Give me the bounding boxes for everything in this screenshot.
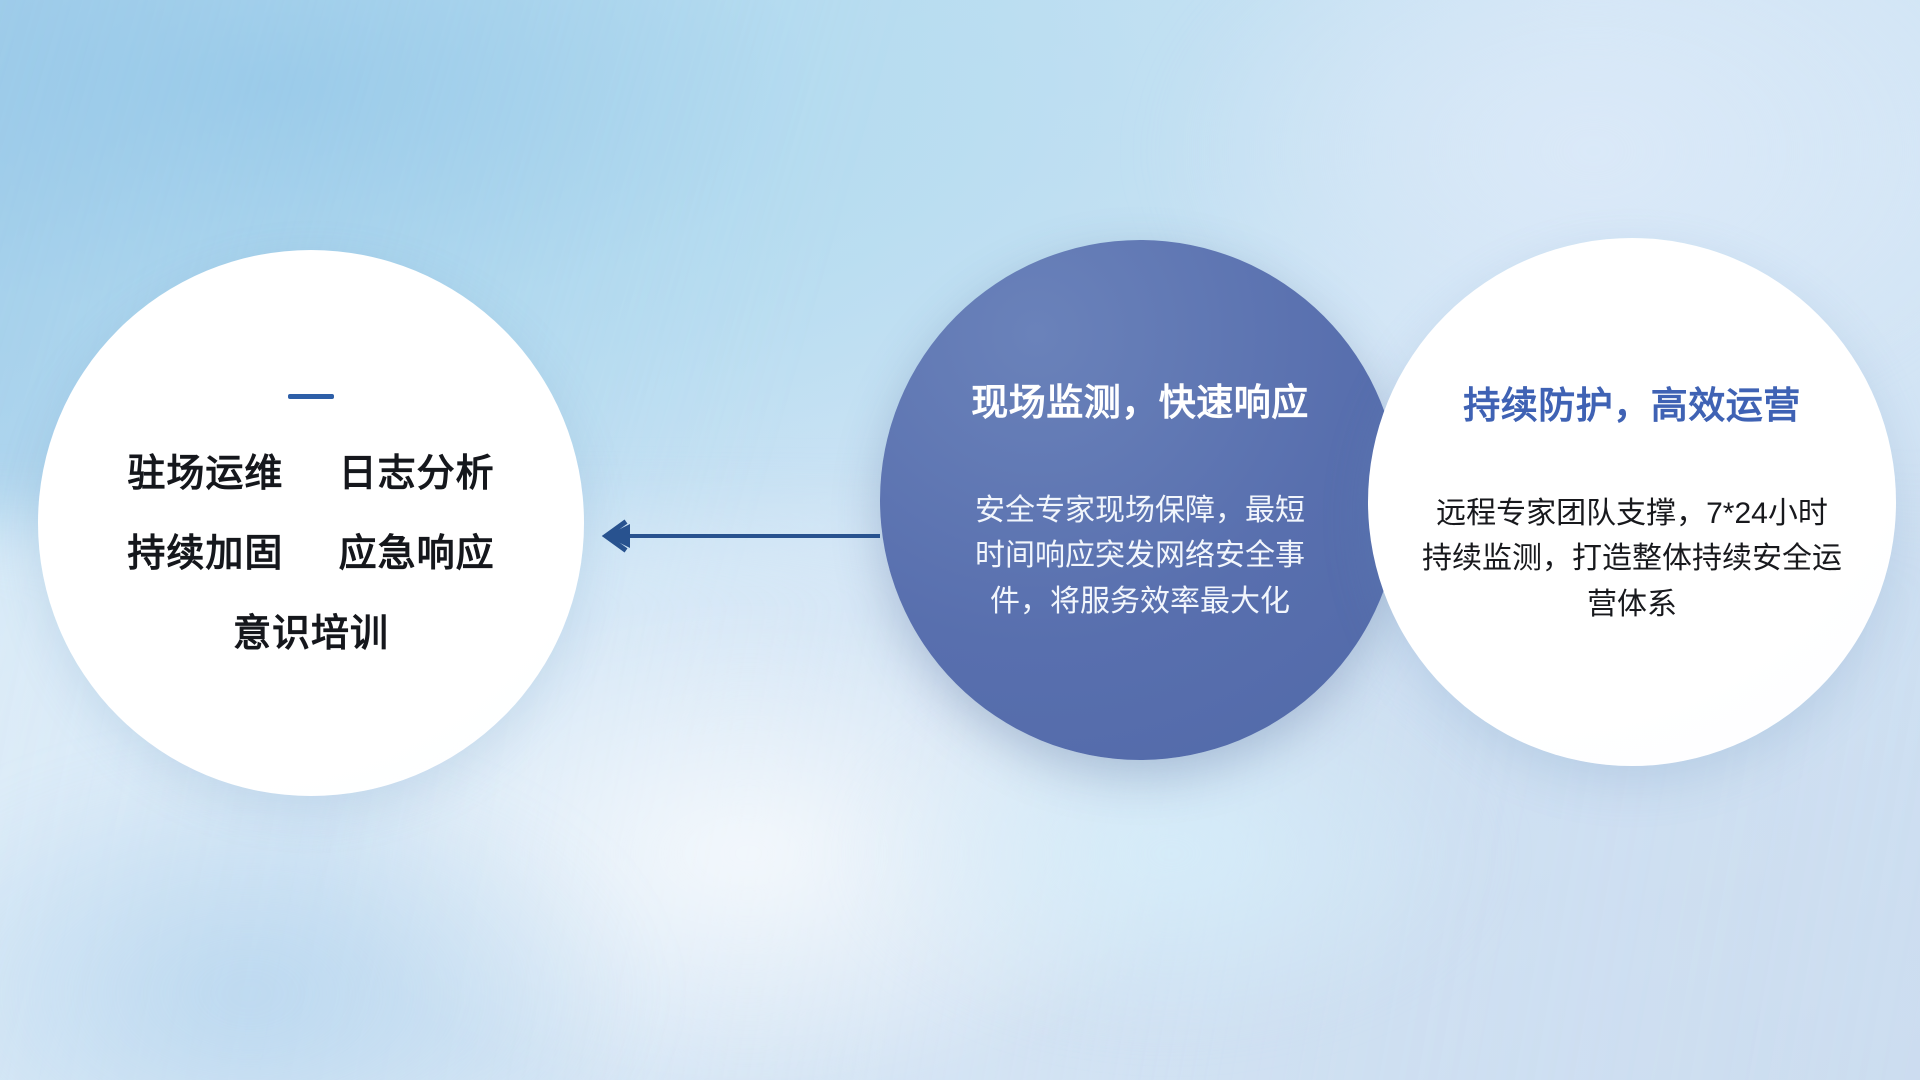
- service-body-onsite: 安全专家现场保障，最短时间响应突发网络安全事件，将服务效率最大化: [975, 488, 1305, 625]
- capability-tag-onsite-ops: 驻场运维: [127, 453, 283, 495]
- capability-tag-log-analysis: 日志分析: [339, 453, 495, 495]
- capability-circle-left[interactable]: 驻场运维 日志分析 持续加固 应急响应 意识培训: [38, 250, 584, 796]
- accent-dash-icon: [288, 394, 334, 399]
- capability-tag-emergency-response: 应急响应: [339, 533, 495, 575]
- capability-tag-awareness-training: 意识培训: [233, 613, 389, 655]
- capability-row-1: 驻场运维 日志分析: [127, 455, 494, 493]
- diagram-canvas: 驻场运维 日志分析 持续加固 应急响应 意识培训 现场监测，快速响应 安全专家现…: [0, 0, 1920, 1080]
- service-circle-continuous[interactable]: 持续防护，高效运营 远程专家团队支撑，7*24小时持续监测，打造整体持续安全运营…: [1368, 238, 1896, 766]
- service-body-continuous: 远程专家团队支撑，7*24小时持续监测，打造整体持续安全运营体系: [1422, 491, 1842, 628]
- service-title-onsite: 现场监测，快速响应: [971, 372, 1309, 426]
- service-title-continuous: 持续防护，高效运营: [1463, 375, 1801, 429]
- capability-tag-continuous-hardening: 持续加固: [127, 533, 283, 575]
- capability-row-3: 意识培训: [233, 615, 389, 653]
- arrow-left-icon: [590, 506, 880, 571]
- capability-row-2: 持续加固 应急响应: [127, 535, 494, 573]
- service-circle-onsite[interactable]: 现场监测，快速响应 安全专家现场保障，最短时间响应突发网络安全事件，将服务效率最…: [880, 240, 1400, 760]
